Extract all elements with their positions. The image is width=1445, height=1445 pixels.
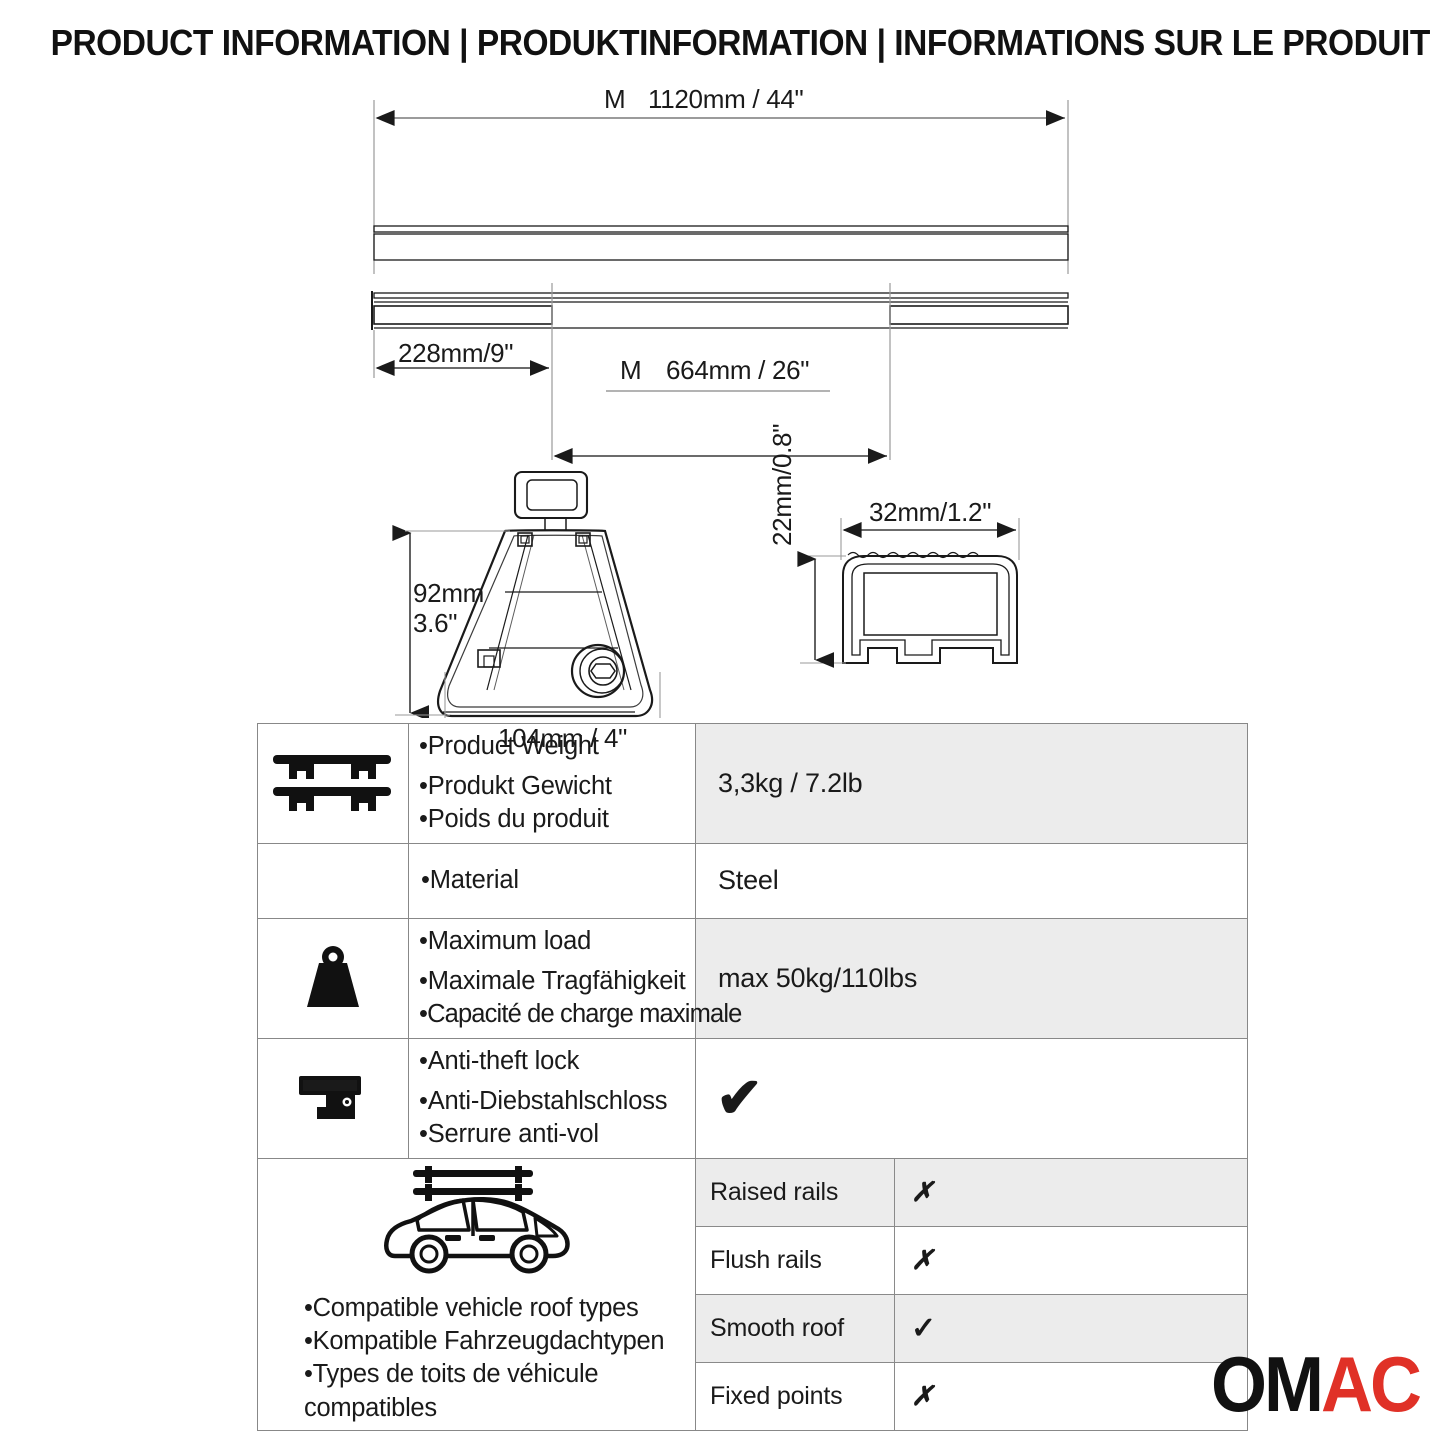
table-row: •Product Weight •Produkt Gewicht •Poids … — [258, 724, 1248, 844]
roof-type-name: Smooth roof — [696, 1294, 895, 1362]
max-load-value-cell: max 50kg/110lbs — [696, 918, 1248, 1038]
anti-theft-check-mark: ✔ — [696, 1070, 1247, 1126]
roof-type-row-raised-rails: Raised rails ✗ — [696, 1159, 1247, 1227]
omac-logo: OMAC — [1211, 1346, 1419, 1424]
foot-height-value-in: 3.6" — [413, 608, 457, 639]
mark-glyph: ✗ — [911, 1177, 933, 1207]
label-en: •Product Weight — [409, 724, 695, 770]
mark-glyph: ✗ — [911, 1245, 933, 1275]
page-title: PRODUCT INFORMATION | PRODUKTINFORMATION… — [51, 22, 1395, 64]
roof-type-mark: ✗ — [895, 1362, 1248, 1430]
max-load-labels: •Maximum load •Maximale Tragfähigkeit •C… — [409, 918, 696, 1038]
bar-length-value: 1120mm / 44" — [648, 84, 803, 115]
foot-height-value-mm: 92mm — [413, 578, 484, 609]
table-row: •Material Steel — [258, 843, 1248, 918]
material-labels: •Material — [409, 843, 696, 918]
anti-theft-value-cell: ✔ — [696, 1038, 1248, 1158]
foot-offset-value: 228mm/9" — [398, 338, 513, 369]
label-de: •Maximale Tragfähigkeit — [409, 965, 695, 999]
product-information-page: PRODUCT INFORMATION | PRODUKTINFORMATION… — [0, 0, 1445, 1445]
compatibility-right-cell: Raised rails ✗ Flush rails ✗ Smooth roof… — [696, 1158, 1248, 1430]
weight-icon-cell — [258, 918, 409, 1038]
profile-height-value: 22mm/0.8" — [767, 424, 798, 546]
weight-icon — [258, 945, 408, 1011]
label-en: •Maximum load — [409, 919, 695, 965]
label-fr: •Types de toits de véhicule — [304, 1358, 689, 1391]
material-value: Steel — [696, 865, 1247, 896]
anti-theft-labels: •Anti-theft lock •Anti-Diebstahlschloss … — [409, 1038, 696, 1158]
roof-type-name: Fixed points — [696, 1362, 895, 1430]
mark-glyph: ✗ — [911, 1381, 933, 1411]
profile-width-value: 32mm/1.2" — [869, 497, 991, 528]
lock-icon — [258, 1072, 408, 1124]
product-weight-value-cell: 3,3kg / 7.2lb — [696, 724, 1248, 844]
compatibility-labels: •Compatible vehicle roof types •Kompatib… — [258, 1292, 695, 1425]
roof-type-row-fixed-points: Fixed points ✗ — [696, 1362, 1247, 1430]
label-fr: •Capacité de charge maximale — [409, 998, 695, 1038]
product-weight-labels: •Product Weight •Produkt Gewicht •Poids … — [409, 724, 696, 844]
label-material: •Material — [409, 858, 695, 904]
label-fr: •Poids du produit — [409, 803, 695, 843]
spread-label: M — [620, 355, 642, 386]
material-icon-cell — [258, 843, 409, 918]
label-de: •Produkt Gewicht — [409, 770, 695, 804]
label-de: •Kompatible Fahrzeugdachtypen — [304, 1325, 689, 1358]
bar-length-label: M — [604, 84, 626, 115]
mark-glyph: ✓ — [911, 1312, 936, 1345]
label-fr: •Serrure anti-vol — [409, 1118, 695, 1158]
table-row: •Anti-theft lock •Anti-Diebstahlschloss … — [258, 1038, 1248, 1158]
material-value-cell: Steel — [696, 843, 1248, 918]
roof-type-row-smooth-roof: Smooth roof ✓ — [696, 1294, 1247, 1362]
label-fr-cont: compatibles — [304, 1392, 689, 1425]
specification-table: •Product Weight •Produkt Gewicht •Poids … — [257, 723, 1248, 1431]
table-row-compatibility: •Compatible vehicle roof types •Kompatib… — [258, 1158, 1248, 1430]
crossbars-icon — [258, 751, 408, 815]
roof-type-mark: ✗ — [895, 1226, 1248, 1294]
roof-type-mark: ✓ — [895, 1294, 1248, 1362]
roof-type-name: Flush rails — [696, 1226, 895, 1294]
crossbars-icon-cell — [258, 724, 409, 844]
lock-icon-cell — [258, 1038, 409, 1158]
roof-type-name: Raised rails — [696, 1159, 895, 1227]
roof-type-table: Raised rails ✗ Flush rails ✗ Smooth roof… — [696, 1159, 1247, 1430]
max-load-value: max 50kg/110lbs — [696, 963, 1247, 994]
compatibility-left-cell: •Compatible vehicle roof types •Kompatib… — [258, 1158, 696, 1430]
table-row: •Maximum load •Maximale Tragfähigkeit •C… — [258, 918, 1248, 1038]
label-en: •Compatible vehicle roof types — [304, 1292, 689, 1325]
spread-value: 664mm / 26" — [666, 355, 809, 386]
product-weight-value: 3,3kg / 7.2lb — [696, 768, 1247, 799]
roof-type-mark: ✗ — [895, 1159, 1248, 1227]
label-en: •Anti-theft lock — [409, 1039, 695, 1085]
car-with-rack-icon — [258, 1164, 695, 1284]
label-de: •Anti-Diebstahlschloss — [409, 1085, 695, 1119]
roof-type-row-flush-rails: Flush rails ✗ — [696, 1226, 1247, 1294]
technical-drawing: M 1120mm / 44" 228mm/9" M 664mm / 26" 92… — [0, 78, 1445, 718]
logo-text-red: AC — [1321, 1342, 1419, 1428]
logo-text-black: OM — [1211, 1342, 1321, 1428]
